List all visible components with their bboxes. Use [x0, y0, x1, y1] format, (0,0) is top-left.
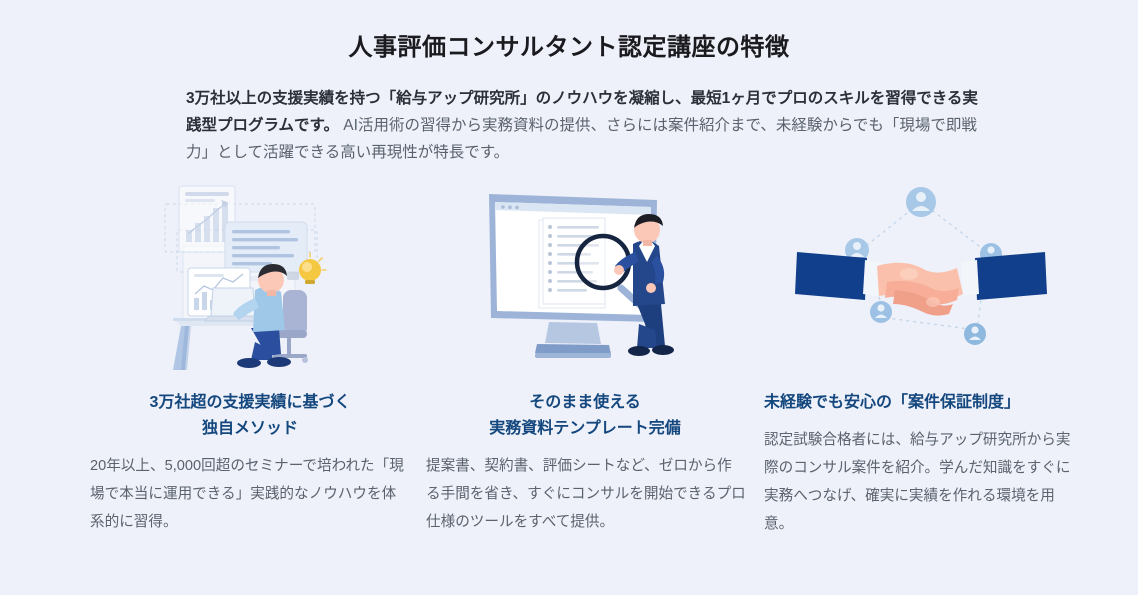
card-body-text: 20年以上、5,000回超のセミナーで培われた「現場で本当に運用できる」実践的な…: [80, 452, 420, 536]
card-heading: そのまま使える 実務資料テンプレート完備: [420, 390, 750, 442]
feature-card-1: 3万社超の支援実績に基づく 独自メソッド 20年以上、5,000回超のセミナーで…: [80, 178, 420, 578]
feature-section: 人事評価コンサルタント認定講座の特徴 3万社以上の支援実績を持つ「給与アップ研究…: [0, 0, 1138, 595]
intro-paragraph: 3万社以上の支援実績を持つ「給与アップ研究所」のノウハウを凝縮し、最短1ヶ月でプ…: [186, 85, 981, 166]
card-heading-line: 3万社超の支援実績に基づく: [80, 390, 420, 416]
person-avatar-icon: [906, 187, 936, 217]
monitor-document-review-illustration: [420, 178, 750, 374]
card-heading: 3万社超の支援実績に基づく 独自メソッド: [80, 390, 420, 442]
card-body-text: 提案書、契約書、評価シートなど、ゼロから作る手間を省き、すぐにコンサルを開始でき…: [420, 452, 750, 536]
card-heading-line: そのまま使える: [420, 390, 750, 416]
handshake-network-illustration: [756, 178, 1086, 374]
card-heading-line: 実務資料テンプレート完備: [420, 416, 750, 442]
page-title: 人事評価コンサルタント認定講座の特徴: [0, 27, 1138, 62]
feature-card-3: 未経験でも安心の「案件保証制度」 認定試験合格者には、給与アップ研究所から実際の…: [756, 178, 1086, 578]
feature-card-2: そのまま使える 実務資料テンプレート完備 提案書、契約書、評価シートなど、ゼロか…: [420, 178, 750, 578]
card-heading: 未経験でも安心の「案件保証制度」: [756, 390, 1086, 416]
card-heading-line: 独自メソッド: [80, 416, 420, 442]
desk-analytics-illustration: [80, 178, 420, 374]
card-heading-line: 未経験でも安心の「案件保証制度」: [764, 390, 1086, 416]
feature-columns: 3万社超の支援実績に基づく 独自メソッド 20年以上、5,000回超のセミナーで…: [0, 178, 1138, 578]
card-body-text: 認定試験合格者には、給与アップ研究所から実際のコンサル案件を紹介。学んだ知識をす…: [756, 426, 1086, 538]
